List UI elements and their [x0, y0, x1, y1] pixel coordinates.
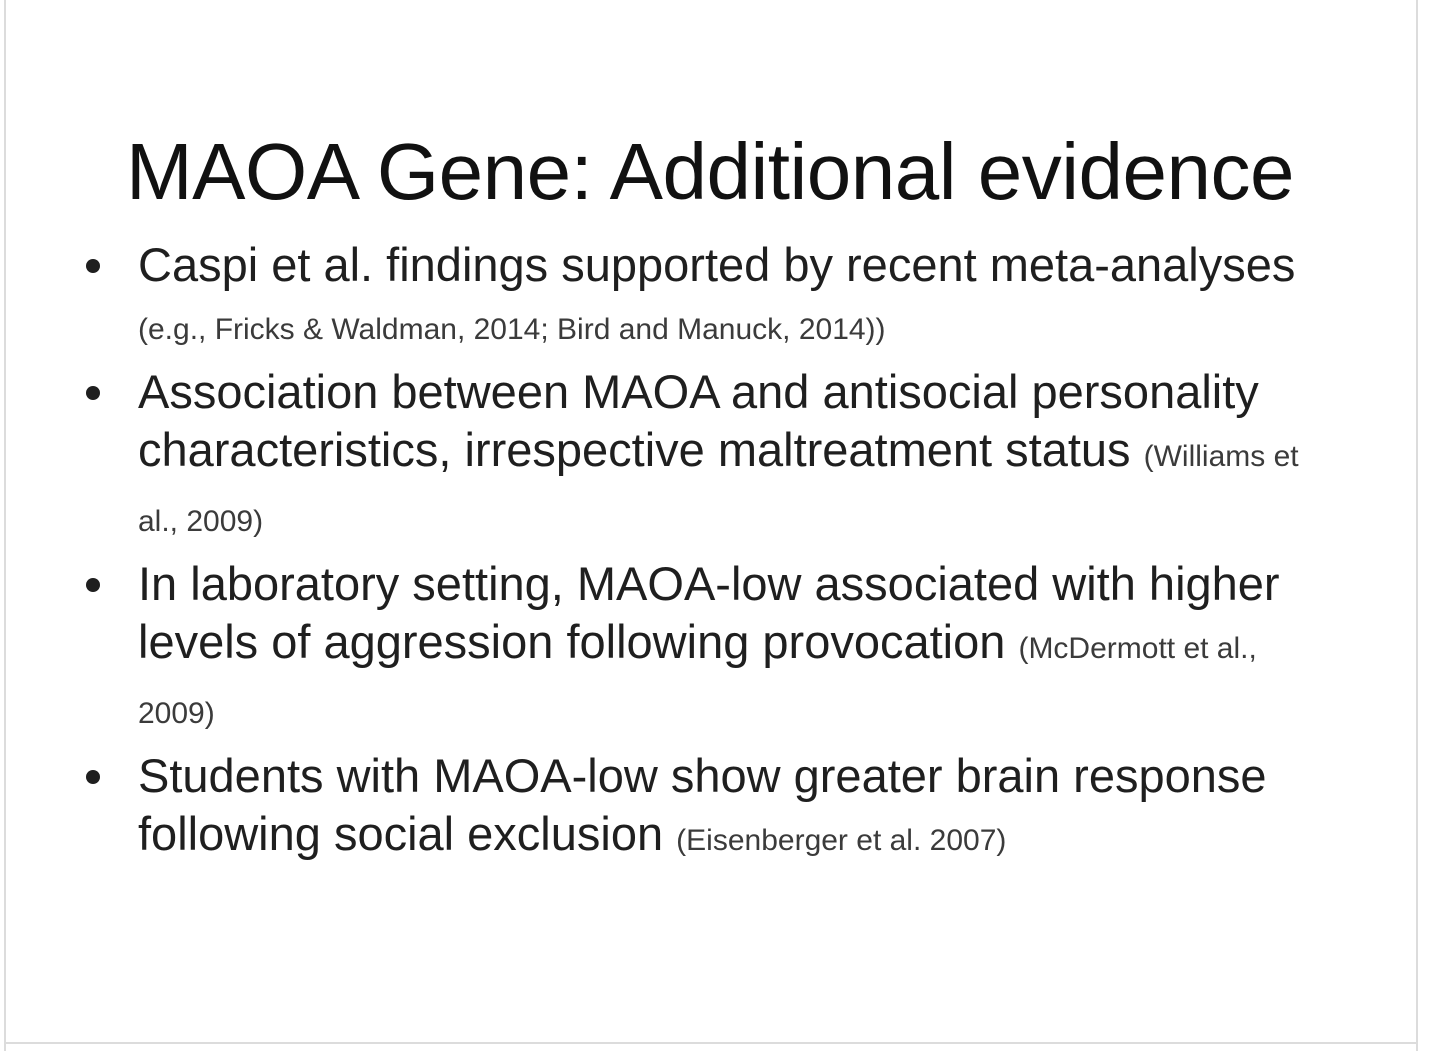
bullet-dot-icon [86, 259, 100, 273]
bullet-text: Association between MAOA and antisocial … [138, 365, 1259, 476]
bullet-dot-icon [86, 386, 100, 400]
list-item: Association between MAOA and antisocial … [78, 363, 1328, 551]
bullet-citation: (Eisenberger et al. 2007) [676, 824, 1006, 857]
bullet-list: Caspi et al. findings supported by recen… [78, 236, 1328, 874]
bullet-dot-icon [86, 578, 100, 592]
page-title: MAOA Gene: Additional evidence [0, 126, 1440, 218]
bullet-text: Caspi et al. findings supported by recen… [138, 238, 1295, 291]
bullet-dot-icon [86, 770, 100, 784]
slide-canvas: MAOA Gene: Additional evidence Caspi et … [0, 0, 1440, 1051]
bullet-citation: (e.g., Fricks & Waldman, 2014; Bird and … [138, 313, 886, 346]
list-item: In laboratory setting, MAOA-low associat… [78, 555, 1328, 743]
slide-bottom-border [4, 1042, 1418, 1044]
list-item: Students with MAOA-low show greater brai… [78, 747, 1328, 870]
list-item: Caspi et al. findings supported by recen… [78, 236, 1328, 359]
